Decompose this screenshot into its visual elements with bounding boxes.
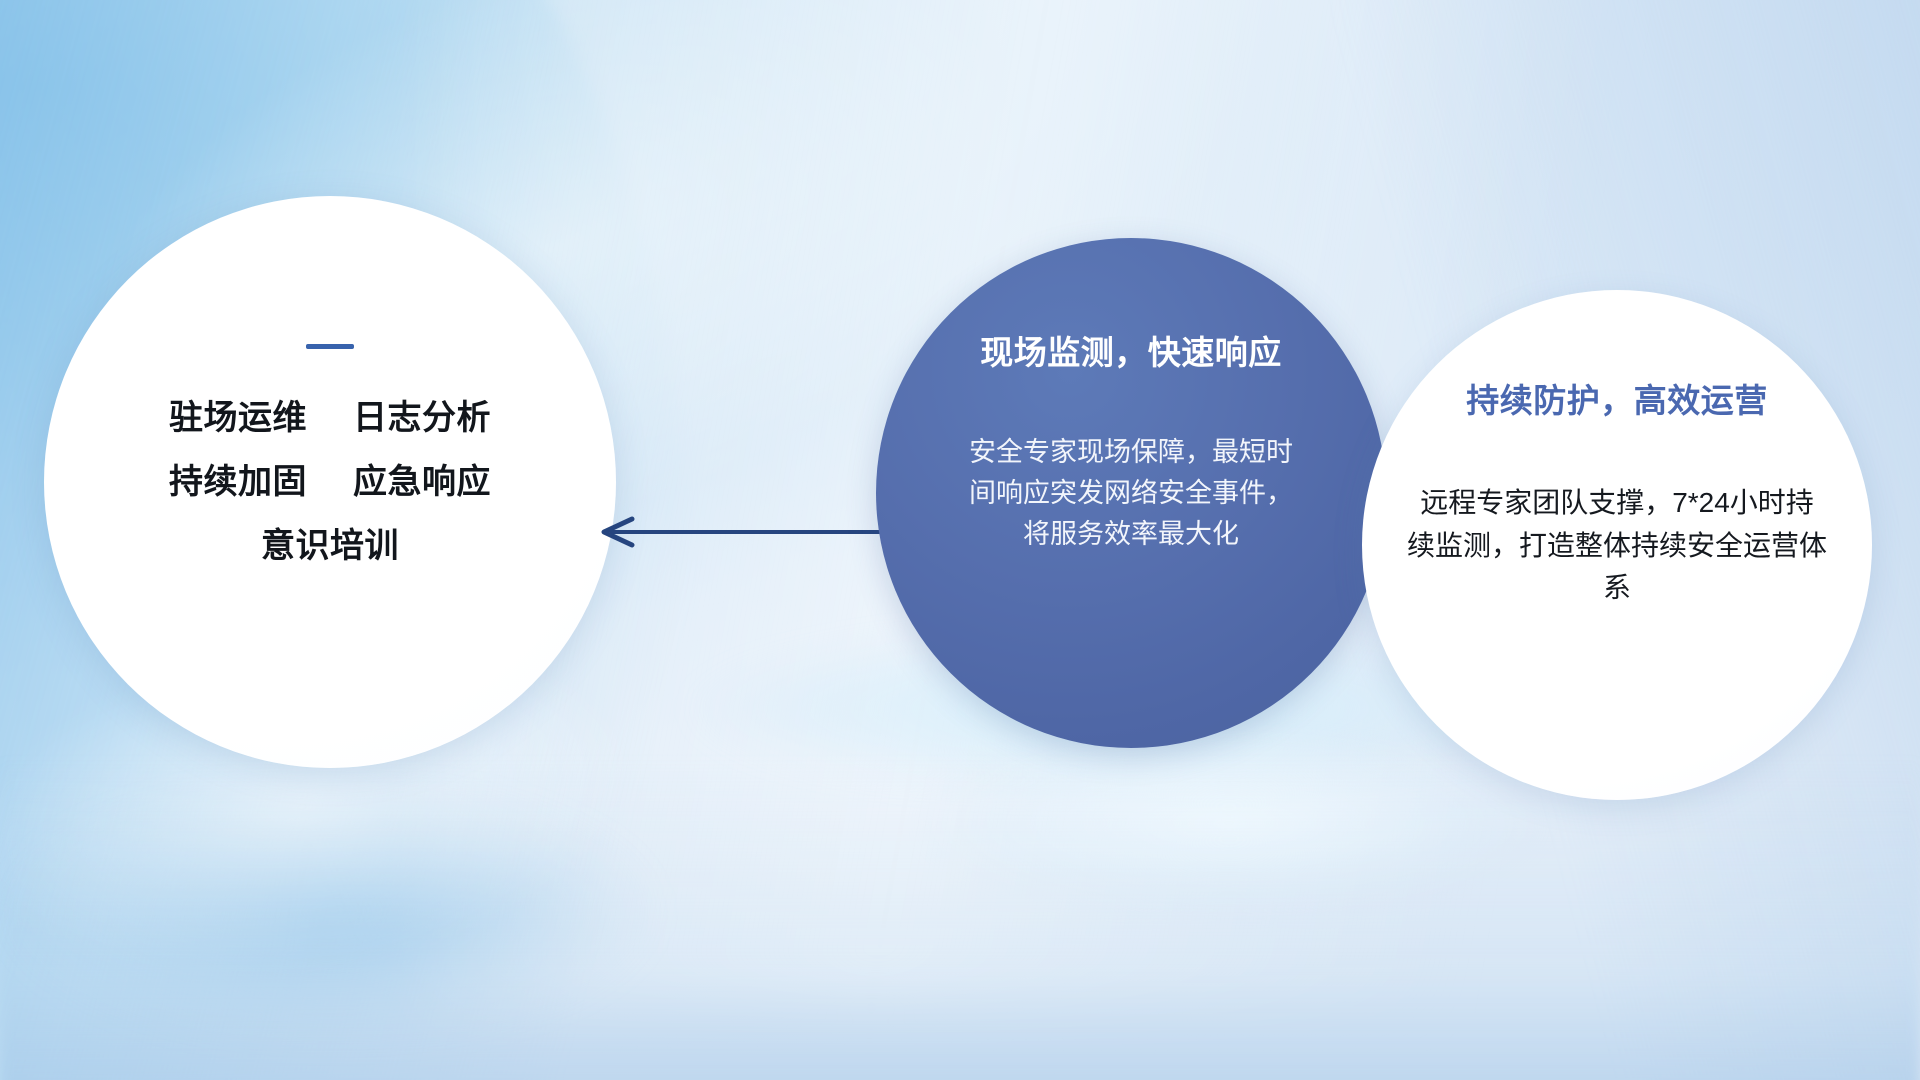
left-circle-line-2-a: 持续加固 [169,463,307,501]
left-circle-line-1-a: 驻场运维 [169,399,307,437]
right-circle-card: 持续防护，高效运营 远程专家团队支撑，7*24小时持续监测，打造整体持续安全运营… [1362,290,1872,800]
middle-circle-card: 现场监测，快速响应 安全专家现场保障，最短时间响应突发网络安全事件，将服务效率最… [876,238,1386,748]
left-circle-card: 驻场运维 日志分析 持续加固 应急响应 意识培训 [44,196,616,768]
right-circle-title: 持续防护，高效运营 [1466,374,1768,422]
middle-circle-body: 安全专家现场保障，最短时间响应突发网络安全事件，将服务效率最大化 [966,432,1296,555]
horizontal-dash-icon [306,344,354,349]
right-circle-body: 远程专家团队支撑，7*24小时持续监测，打造整体持续安全运营体系 [1407,482,1827,610]
left-circle-line-3: 意识培训 [261,529,399,563]
slide-canvas: 驻场运维 日志分析 持续加固 应急响应 意识培训 现场监测，快速响应 安全专家现… [0,0,1920,1080]
left-circle-line-2: 持续加固 应急响应 [169,465,491,499]
connector-arrow [592,516,892,548]
background-shade-bottom [0,756,1920,1080]
arrow-left-icon [592,516,892,548]
middle-circle-title: 现场监测，快速响应 [980,326,1282,374]
left-circle-line-1: 驻场运维 日志分析 [169,401,491,435]
left-circle-line-2-b: 应急响应 [353,463,491,501]
left-circle-line-1-b: 日志分析 [353,399,491,437]
left-circle-line-3-a: 意识培训 [261,527,399,565]
